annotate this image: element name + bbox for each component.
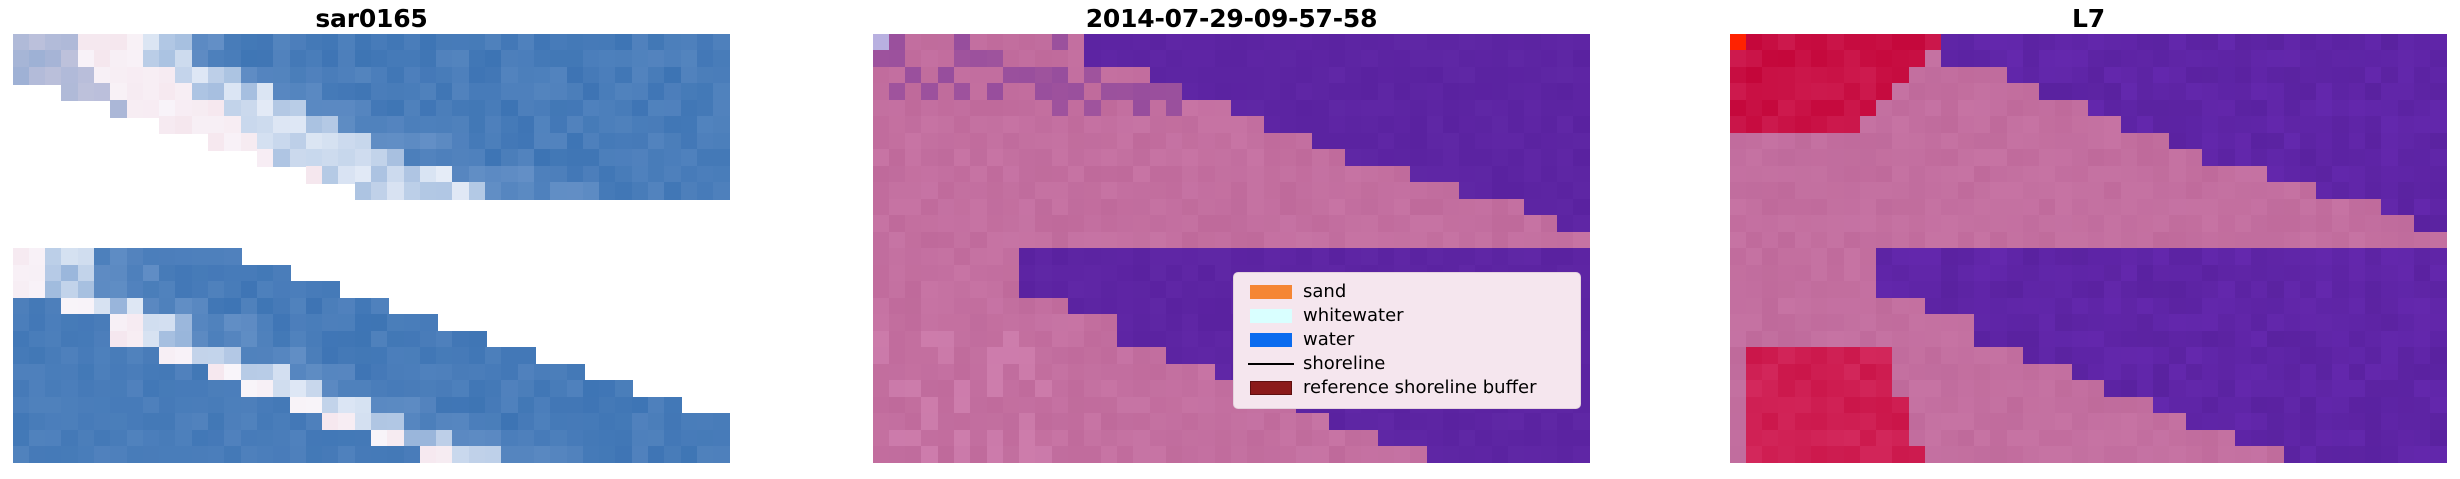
axes-l7 [1730,34,2447,463]
class-legend: sand whitewater water shoreline referenc… [1233,272,1581,409]
image-l7 [1730,34,2447,463]
legend-swatch-reference-buffer [1250,381,1292,395]
legend-label-reference-buffer: reference shoreline buffer [1298,377,1536,399]
legend-swatch-whitewater-wrap [1244,309,1298,323]
panel-sar0165: sar0165 [13,0,730,479]
image-sar0165 [13,34,730,463]
legend-item-whitewater: whitewater [1244,304,1570,328]
legend-swatch-shoreline-wrap [1244,363,1298,365]
legend-label-sand: sand [1298,281,1346,303]
axes-sar0165 [13,34,730,463]
legend-item-reference-shoreline-buffer: reference shoreline buffer [1244,376,1570,400]
legend-item-sand: sand [1244,280,1570,304]
panel-title-sar0165: sar0165 [13,4,730,34]
figure-canvas: sar0165 2014-07-29-09-57-58 L7 sand wh [0,0,2460,479]
legend-swatch-water [1250,333,1292,347]
legend-swatch-whitewater [1250,309,1292,323]
legend-label-water: water [1298,329,1354,351]
legend-swatch-sand [1250,285,1292,299]
legend-label-shoreline: shoreline [1298,353,1385,375]
legend-label-whitewater: whitewater [1298,305,1404,327]
legend-item-shoreline: shoreline [1244,352,1570,376]
panel-title-timestamp: 2014-07-29-09-57-58 [873,4,1590,34]
panel-l7: L7 [1730,0,2447,479]
legend-swatch-sand-wrap [1244,285,1298,299]
legend-item-water: water [1244,328,1570,352]
legend-swatch-shoreline [1248,363,1294,365]
panel-title-l7: L7 [1730,4,2447,34]
legend-swatch-reference-buffer-wrap [1244,381,1298,395]
legend-swatch-water-wrap [1244,333,1298,347]
